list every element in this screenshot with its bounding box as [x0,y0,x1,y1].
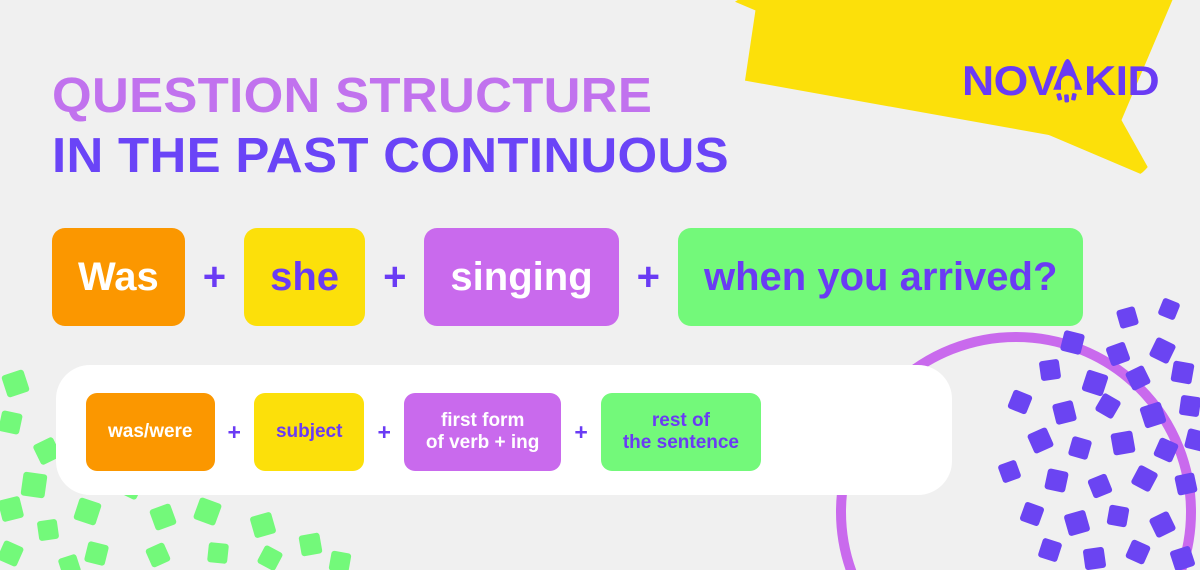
confetti-square-purple [1052,400,1077,425]
confetti-square-purple [1039,359,1062,382]
confetti-square-purple [1139,401,1167,429]
logo-text-left: NOV [962,57,1057,105]
confetti-square-purple [1068,436,1093,461]
confetti-square-green [207,542,229,564]
confetti-square-purple [1060,330,1085,355]
confetti-square-purple [1094,392,1121,419]
plus-separator: + [364,421,403,444]
confetti-square-purple [1019,501,1045,527]
chip-rest-of-the-sentence: rest ofthe sentence [601,393,761,471]
confetti-square-purple [1179,395,1200,418]
confetti-square-green [193,497,222,526]
confetti-square-purple [1116,306,1140,330]
confetti-square-purple [997,459,1021,483]
chip-label-line-1: first form [426,410,540,432]
chip-first-form-of-verb-ing: first formof verb + ing [404,393,562,471]
confetti-square-green [328,550,351,570]
confetti-square-purple [1063,509,1090,536]
confetti-square-purple [1105,341,1131,367]
novakid-logo[interactable]: NOV KID [962,57,1154,105]
infographic-canvas: NOV KID QUESTION STRUCTURE IN THE PAST C… [0,0,1200,570]
confetti-square-green [84,541,109,566]
chip-label-line-1: was/were [108,421,193,443]
confetti-square-purple [1157,297,1180,320]
confetti-square-purple [1081,369,1109,397]
confetti-square-purple [1125,539,1151,565]
confetti-square-purple [1170,360,1194,384]
confetti-square-purple [1106,504,1129,527]
page-title: QUESTION STRUCTURE IN THE PAST CONTINUOU… [52,66,703,186]
confetti-square-purple [1153,437,1179,463]
plus-separator: + [619,257,678,297]
chip-was-were: was/were [86,393,215,471]
confetti-square-purple [1037,537,1062,562]
confetti-square-purple [1125,365,1152,392]
example-sentence-row: Was+she+singing+when you arrived? [52,228,1083,326]
plus-separator: + [215,421,254,444]
chip-singing: singing [424,228,618,326]
chip-she: she [244,228,365,326]
confetti-square-purple [1174,472,1198,496]
formula-row: was/were+subject+first formof verb + ing… [86,393,761,471]
confetti-square-green [20,471,47,498]
plus-separator: + [365,257,424,297]
plus-separator: + [185,257,244,297]
confetti-square-green [0,496,24,523]
confetti-square-purple [1027,427,1055,455]
chip-label-line-1: rest of [623,410,739,432]
confetti-square-green [298,532,322,556]
confetti-square-green [0,410,23,435]
confetti-square-green [58,554,82,570]
rocket-icon [1050,58,1086,104]
confetti-square-green [249,511,276,538]
confetti-square-purple [1169,545,1195,570]
confetti-square-green [149,503,177,531]
confetti-square-green [37,519,60,542]
confetti-square-purple [1083,547,1107,570]
confetti-square-purple [1130,464,1158,492]
confetti-square-purple [1184,428,1200,452]
confetti-square-purple [1148,336,1176,364]
confetti-square-purple [1044,468,1069,493]
chip-label-line-2: of verb + ing [426,432,540,454]
confetti-square-purple [1087,473,1113,499]
chip-label-line-2: the sentence [623,432,739,454]
confetti-square-green [1,369,30,398]
confetti-square-green [256,544,283,570]
title-line-2: IN THE PAST CONTINUOUS [52,126,729,186]
chip-was: Was [52,228,185,326]
confetti-square-purple [1148,510,1176,538]
confetti-square-purple [1110,430,1135,455]
confetti-square-green [0,540,24,568]
chip-label-line-1: subject [276,421,343,443]
chip-when-you-arrived: when you arrived? [678,228,1083,326]
confetti-square-green [73,497,102,526]
confetti-square-green [145,542,171,568]
logo-text-right: KID [1084,57,1159,105]
plus-separator: + [561,421,600,444]
chip-subject: subject [254,393,365,471]
title-line-1: QUESTION STRUCTURE [52,66,729,126]
confetti-square-purple [1007,389,1033,415]
